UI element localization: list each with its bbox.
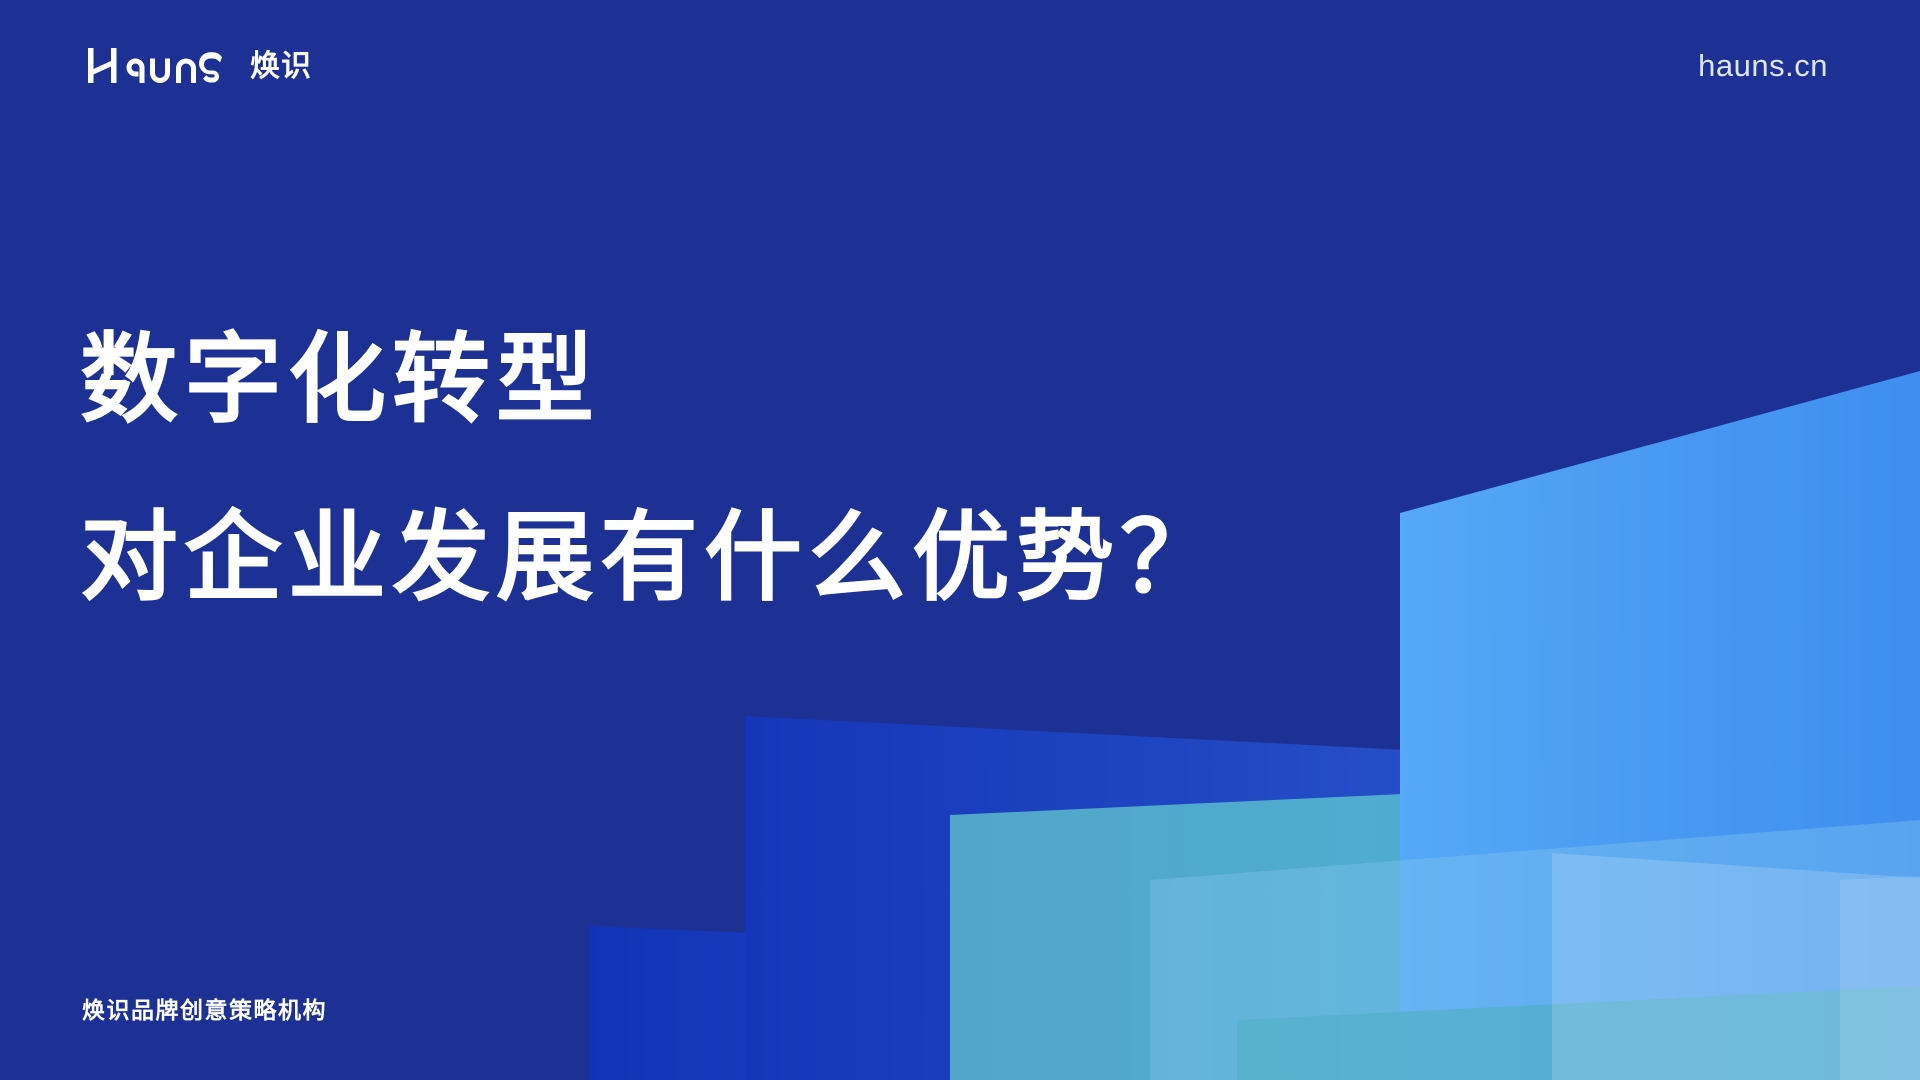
panel-teal-center	[950, 770, 1920, 1080]
hauns-wordmark-icon	[88, 48, 240, 84]
brand-logo[interactable]: 焕识	[88, 48, 312, 84]
panel-bright-right	[1400, 371, 1920, 1080]
headline-block: 数字化转型 对企业发展有什么优势？	[80, 330, 1224, 606]
slide-canvas: 焕识 hauns.cn 数字化转型 对企业发展有什么优势？ 焕识品牌创意策略机构	[0, 0, 1920, 1080]
panel-white-sheet	[1552, 853, 1920, 1080]
panel-teal-lower	[1237, 986, 1920, 1080]
brand-logo-chinese: 焕识	[250, 52, 312, 82]
panel-left-royal	[589, 926, 1460, 1080]
panel-sky-overlay-upper	[1150, 820, 1920, 1080]
headline-line-1: 数字化转型	[80, 330, 1224, 428]
panel-mid-blue	[745, 716, 1600, 1080]
headline-line-2: 对企业发展有什么优势？	[80, 508, 1224, 606]
panel-highlight-sliver	[1840, 876, 1920, 1080]
slide-footer: 焕识品牌创意策略机构	[82, 999, 327, 1022]
organization-name: 焕识品牌创意策略机构	[82, 999, 327, 1022]
site-url[interactable]: hauns.cn	[1698, 50, 1828, 81]
slide-header: 焕识 hauns.cn	[0, 0, 1920, 130]
